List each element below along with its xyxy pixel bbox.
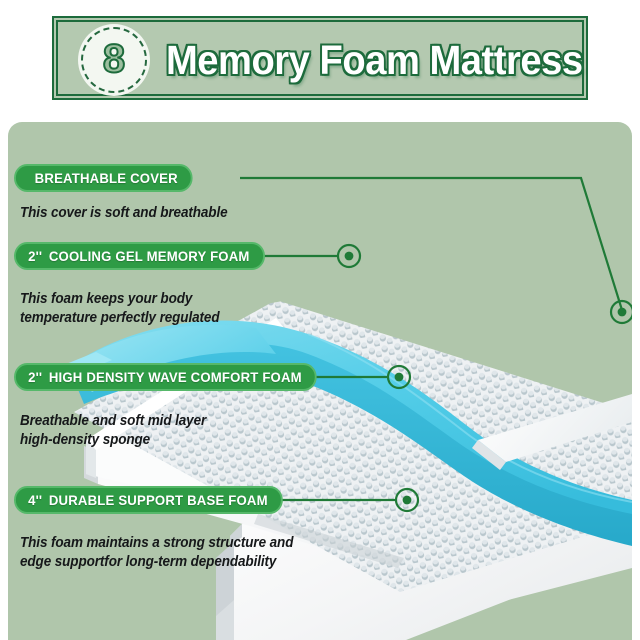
content-panel: BREATHABLE COVER This cover is soft and …: [8, 122, 632, 640]
label-text-base-foam: DURABLE SUPPORT BASE FOAM: [49, 492, 268, 508]
label-text-wave-comfort: HIGH DENSITY WAVE COMFORT FOAM: [49, 369, 302, 385]
infographic-canvas: 8 Memory Foam Mattress: [0, 0, 640, 640]
badge-number-text: 8: [78, 24, 150, 96]
label-text-cooling-gel: COOLING GEL MEMORY FOAM: [49, 248, 250, 264]
label-pill-base-foam[interactable]: 4'' DURABLE SUPPORT BASE FOAM: [14, 486, 283, 514]
description-wave-comfort: Breathable and soft mid layer high-densi…: [20, 412, 206, 450]
header-band: 8 Memory Foam Mattress: [0, 0, 640, 118]
step-number-badge: 8: [78, 24, 150, 96]
description-breathable-cover: This cover is soft and breathable: [20, 204, 228, 223]
header-box: 8 Memory Foam Mattress: [52, 16, 588, 100]
description-base-foam: This foam maintains a strong structure a…: [20, 534, 293, 572]
page-title: Memory Foam Mattress: [166, 32, 583, 88]
description-cooling-gel: This foam keeps your body temperature pe…: [20, 290, 219, 328]
label-pill-cooling-gel[interactable]: 2'' COOLING GEL MEMORY FOAM: [14, 242, 265, 270]
label-text-breathable-cover: BREATHABLE COVER: [35, 170, 178, 186]
label-pill-wave-comfort[interactable]: 2'' HIGH DENSITY WAVE COMFORT FOAM: [14, 363, 317, 391]
label-size-cooling-gel: 2'': [28, 248, 42, 264]
label-size-base-foam: 4'': [28, 492, 42, 508]
label-pill-breathable-cover[interactable]: BREATHABLE COVER: [14, 164, 193, 192]
label-size-wave-comfort: 2'': [28, 369, 42, 385]
